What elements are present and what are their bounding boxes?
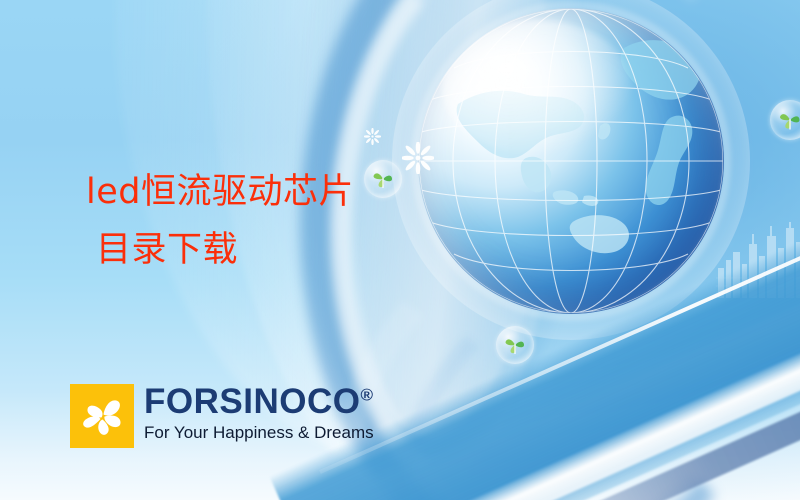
banner-image: led恒流驱动芯片 目录下载 FORSINOCO® For Your Happi…: [0, 0, 800, 500]
logo-company-name-text: FORSINOCO: [144, 382, 360, 421]
headline: led恒流驱动芯片 目录下载: [86, 163, 354, 279]
registered-mark: ®: [360, 385, 373, 404]
headline-line-2: 目录下载: [86, 221, 354, 279]
bubble-icon: [364, 160, 402, 198]
green-pinwheel-icon: [496, 326, 534, 364]
logo-company-name: FORSINOCO®: [144, 384, 374, 420]
logo-wordmark: FORSINOCO® For Your Happiness & Dreams: [144, 384, 374, 444]
green-pinwheel-icon: [770, 100, 800, 140]
bubble-icon: [496, 326, 534, 364]
four-petal-pinwheel-icon: [70, 384, 134, 448]
bubble-icon: [770, 100, 800, 140]
green-pinwheel-icon: [364, 160, 402, 198]
logo-tagline: For Your Happiness & Dreams: [144, 422, 374, 444]
company-logo: FORSINOCO® For Your Happiness & Dreams: [70, 384, 374, 448]
headline-line-1: led恒流驱动芯片: [86, 172, 354, 212]
